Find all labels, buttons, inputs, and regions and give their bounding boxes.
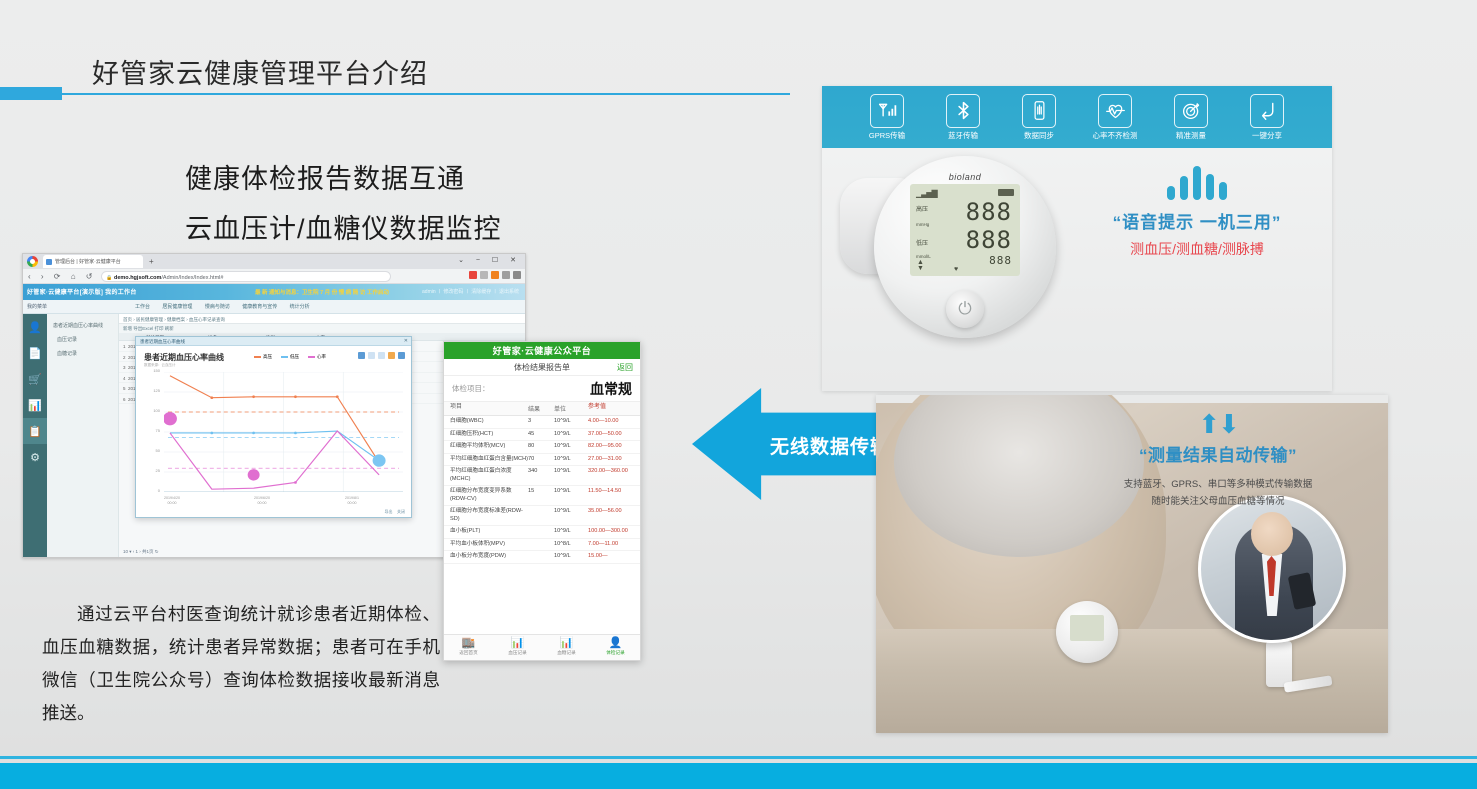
handheld-monitor [1056,601,1118,663]
feature-arrhythmia: 心率不齐检测 [1089,94,1141,141]
lcd-arrows-icon: ▲▼ [917,260,924,272]
bluetooth-icon [946,94,980,128]
th-unit: 单位 [554,404,588,413]
device-lcd: ▁▃▅▇ 高压 mmHg 低压 mmol/L 888 888 888 ▲▼ ♥ [910,184,1020,276]
sidebar-item-bp[interactable]: 血压记录 [47,329,118,343]
browser-addressbar: ‹ › ⟳ ⌂ ↺ ☆ 🔒 demo.hgjsoft.com/Admin/Ind… [23,269,525,284]
chart-dialog-titlebar: 患者近期血压心率曲线 ✕ [136,337,411,346]
extension-icon-2[interactable] [480,271,488,279]
lcd-signal-icon: ▁▃▅▇ [916,189,937,198]
up-down-arrows-icon: ⬆⬇ [1058,409,1378,439]
chart-x-axis: 2019/4/2000:00 2019/6/2000:00 2019/8/100… [164,496,403,512]
lcd-heart-icon: ♥ [954,266,958,273]
target-icon [1174,94,1208,128]
sidebar-title: 患者近期血压心率曲线 [47,314,118,329]
share-icon [1250,94,1284,128]
auto-transfer-panel: ⬆⬇ “测量结果自动传输” 支持蓝牙、GPRS、串口等多种模式传输数据 随时能关… [876,395,1388,733]
app-sidebar-icons[interactable]: 👤 📄 🛒 📊 📋 ⚙ [23,314,47,558]
new-tab-button[interactable]: + [149,257,154,266]
voice-title: “语音提示 一机三用” [1072,208,1322,233]
chart-dialog-title: 患者近期血压心率曲线 [136,337,411,345]
chart-title: 患者近期血压心率曲线 [144,352,224,363]
auto-transfer-desc: 支持蓝牙、GPRS、串口等多种模式传输数据 随时能关注父母血压血糖等情况 [1058,476,1378,510]
chart-tool-save-icon[interactable] [398,352,405,359]
url-input[interactable]: 🔒 demo.hgjsoft.com/Admin/Index/Index.htm… [101,271,391,282]
auto-transfer-text-block: ⬆⬇ “测量结果自动传输” 支持蓝牙、GPRS、串口等多种模式传输数据 随时能关… [1058,409,1378,510]
device-feature-panel: GPRS传输 蓝牙传输 数据同步 [822,86,1332,391]
feature-bluetooth: 蓝牙传输 [937,94,989,141]
grid-icon: 🏬 [444,637,493,650]
device-brand: bioland [874,172,1056,182]
table-row: 红细胞分布宽度变异系数(RDW-CV)15 10^9/L11.50—14.50 [444,486,640,506]
bar-chart-icon: 📊 [493,637,542,650]
table-row: 平均红细胞血红蛋白浓度(MCHC)340 10^9/L320.00—360.00 [444,466,640,486]
report-table-body: 白细胞(WBC)3 10^9/L4.00—10.00 红细胞压积(HCT)45 … [444,416,640,621]
chart-tool-restore-icon[interactable] [368,352,375,359]
subheading-2: 云血压计/血糖仪数据监控 [185,207,502,246]
chart-y-axis: 150 125 100 75 50 25 0 [140,368,162,492]
menu-item-4[interactable]: 统计分析 [290,304,310,310]
profile-icon[interactable] [502,271,510,279]
phone-brand-header: 好管家·云健康公众平台 [444,342,640,359]
url-path: /Admin/Index/Index.html# [161,275,223,281]
breadcrumb: 首页 › 居民健康管理 › 健康档案 › 血压心率记录查询 [119,314,525,324]
signal-icon [870,94,904,128]
lcd-battery-icon [998,189,1014,196]
table-row: 平均血小板体积(MPV) 10^8/L7.00—11.00 [444,539,640,552]
menu-item-2[interactable]: 慢病与随访 [205,304,230,310]
voice-feature-block: “语音提示 一机三用” 测血压/测血糖/测脉搏 [1072,166,1322,259]
app-user-info[interactable]: admin 〡 修改密码 〡 清除缓存 〡 退出系统 [422,288,519,295]
exam-item-label: 体检项目： [452,383,490,394]
nav-item-exam[interactable]: 👤 体检记录 [591,635,640,660]
content-toolbar[interactable]: 新增 导出Excel 打印 刷新 [119,324,525,333]
menu-items[interactable]: 工作台 居民健康管理 慢病与随访 健康教育与宣传 统计分析 [135,303,321,310]
chart-toolbox[interactable] [358,352,405,359]
bar-chart-icon: 📊 [542,637,591,650]
table-row: 白细胞(WBC)3 10^9/L4.00—10.00 [444,416,640,429]
close-icon[interactable]: ✕ [404,338,408,344]
page-title: 好管家云健康管理平台介绍 [92,52,428,91]
window-controls[interactable]: ⌄ − ☐ ✕ [458,256,521,264]
chart-area: 患者近期血压心率曲线 数据来源：云血压计 高压 低压 心率 [136,346,411,518]
menu-item-1[interactable]: 居民健康管理 [162,304,192,310]
sidebar-cart-icon[interactable]: 🛒 [23,366,47,392]
phone-sync-icon [1022,94,1056,128]
inset-circular-photo [1198,495,1346,643]
extension-icon-3[interactable] [491,271,499,279]
exam-item-value: 血常规 [590,379,632,399]
person-icon: 👤 [591,637,640,650]
slide-title-block: 好管家云健康管理平台介绍 [0,52,790,98]
lcd-digits-systolic: 888 [966,198,1012,226]
app-sidebar-menu[interactable]: 患者近期血压心率曲线 血压记录 血糖记录 [47,314,119,558]
th-name: 项目 [444,404,528,413]
menu-left-label[interactable]: 我的菜单 [27,303,47,310]
chart-export-button[interactable]: 导出 [385,509,393,514]
legend-item-high[interactable]: 高压 [254,354,272,360]
legend-item-low[interactable]: 低压 [281,354,299,360]
legend-item-hr[interactable]: 心率 [308,354,326,360]
power-button[interactable]: ⏻ [946,290,984,328]
lcd-low-label: 低压 [916,238,928,247]
sidebar-report-icon[interactable]: 📄 [23,340,47,366]
lcd-digits-pulse: 888 [989,254,1012,267]
feature-gprs: GPRS传输 [861,94,913,141]
footer-accent-line [0,756,1477,759]
table-row: 红细胞分布宽度标准差(RDW-SD) 10^9/L35.00—56.00 [444,506,640,526]
lcd-mmhg-label: mmHg [916,222,929,227]
app-menubar: 我的菜单 工作台 居民健康管理 慢病与随访 健康教育与宣传 统计分析 [23,300,525,314]
subheading-1: 健康体检报告数据互通 [185,157,465,196]
phone-bottom-nav[interactable]: 🏬 返回首页 📊 血压记录 📊 血糖记录 👤 体检记录 [444,634,640,660]
phone-report-card: 好管家·云健康公众平台 体检结果报告单 返回 体检项目： 血常规 项目 结果 单… [443,341,641,661]
sound-wave-icon [1072,166,1322,200]
footer-bar [0,763,1477,789]
app-marquee-notice: 最 新 通知与消息：卫生院 7 月 份 慢 病 随 访 工作启动 [255,288,389,296]
feature-share: 一键分享 [1241,94,1293,141]
menu-icon[interactable] [513,271,521,279]
table-row: 红细胞压积(HCT)45 10^9/L37.00—50.00 [444,429,640,442]
lcd-digits-diastolic: 888 [966,226,1012,254]
sidebar-item-bg[interactable]: 血糖记录 [47,343,118,357]
extension-icon-1[interactable] [469,271,477,279]
description-paragraph: 通过云平台村医查询统计就诊患者近期体检、血压血糖数据，统计患者异常数据；患者可在… [42,598,440,730]
phone-exam-item: 体检项目： 血常规 [444,376,640,402]
chart-legend[interactable]: 高压 低压 心率 [254,354,326,360]
blood-pressure-monitor: bioland ▁▃▅▇ 高压 mmHg 低压 mmol/L 888 888 8… [874,156,1056,338]
table-row: 血小板(PLT) 10^9/L100.00—300.00 [444,526,640,539]
chart-tool-datazoom-icon[interactable] [378,352,385,359]
sidebar-chart-icon[interactable]: 📊 [23,392,47,418]
url-domain: demo.hgjsoft.com [114,275,161,281]
chart-plot [164,372,403,492]
browser-toolbar-icons[interactable] [469,271,521,279]
chart-tool-dataview-icon[interactable] [388,352,395,359]
sidebar-settings-icon[interactable]: ⚙ [23,444,47,470]
voice-subtitle: 测血压/测血糖/测脉搏 [1072,239,1322,259]
chart-dialog: 患者近期血压心率曲线 ✕ 患者近期血压心率曲线 数据来源：云血压计 高压 低压 … [135,336,412,518]
menu-item-0[interactable]: 工作台 [135,304,150,310]
heart-pulse-icon [1098,94,1132,128]
chart-close-button[interactable]: 关闭 [397,509,405,514]
device-shell: bioland ▁▃▅▇ 高压 mmHg 低压 mmol/L 888 888 8… [874,156,1056,338]
app-brand: 好管家·云健康平台[演示版] 我的工作台 [27,287,137,296]
feature-icon-row: GPRS传输 蓝牙传输 数据同步 [822,86,1332,148]
menu-item-3[interactable]: 健康教育与宣传 [242,304,277,310]
sidebar-record-icon[interactable]: 📋 [23,418,47,444]
table-row: 血小板分布宽度(PDW) 10^9/L15.00— [444,551,640,564]
table-row: 红细胞平均体积(MCV)80 10^9/L82.00—95.00 [444,441,640,454]
nav-item-home[interactable]: 🏬 返回首页 [444,635,493,660]
feature-sync: 数据同步 [1013,94,1065,141]
nav-item-bg[interactable]: 📊 血糖记录 [542,635,591,660]
phone-page-title: 体检结果报告单 返回 [444,359,640,376]
medicine-bottle [1266,641,1292,687]
chart-tool-brush-icon[interactable] [358,352,365,359]
th-ref: 参考值 [588,404,634,413]
table-row: 平均红细胞血红蛋白含量(MCH)70 10^9/L27.00—31.00 [444,454,640,467]
auto-transfer-title: “测量结果自动传输” [1058,441,1378,466]
app-header: 好管家·云健康平台[演示版] 我的工作台 最 新 通知与消息：卫生院 7 月 份… [23,284,525,300]
chrome-logo-icon [27,256,38,267]
back-link[interactable]: 返回 [617,362,633,373]
arrow-label: 无线数据传输 [770,432,890,459]
lcd-high-label: 高压 [916,204,928,213]
report-table-header: 项目 结果 单位 参考值 [444,402,640,416]
lock-icon: 🔒 [106,275,112,281]
man-head [1251,512,1293,556]
sidebar-user-icon[interactable]: 👤 [23,314,47,340]
device-body: bioland ▁▃▅▇ 高压 mmHg 低压 mmol/L 888 888 8… [822,148,1332,391]
th-result: 结果 [528,404,554,413]
browser-tabstrip: 管理后台 | 好管家·云健康平台 + ⌄ − ☐ ✕ [23,254,525,269]
lifestyle-photo: ⬆⬇ “测量结果自动传输” 支持蓝牙、GPRS、串口等多种模式传输数据 随时能关… [876,403,1388,733]
browser-tab[interactable]: 管理后台 | 好管家·云健康平台 [43,255,143,268]
feature-accuracy: 精准测量 [1165,94,1217,141]
title-underline [10,93,790,95]
chart-dialog-buttons[interactable]: 导出 关闭 [385,509,405,515]
nav-item-bp[interactable]: 📊 血压记录 [493,635,542,660]
grid-pager[interactable]: 10 ▾ ‹ 1 › 共1页 ↻ [123,549,159,555]
